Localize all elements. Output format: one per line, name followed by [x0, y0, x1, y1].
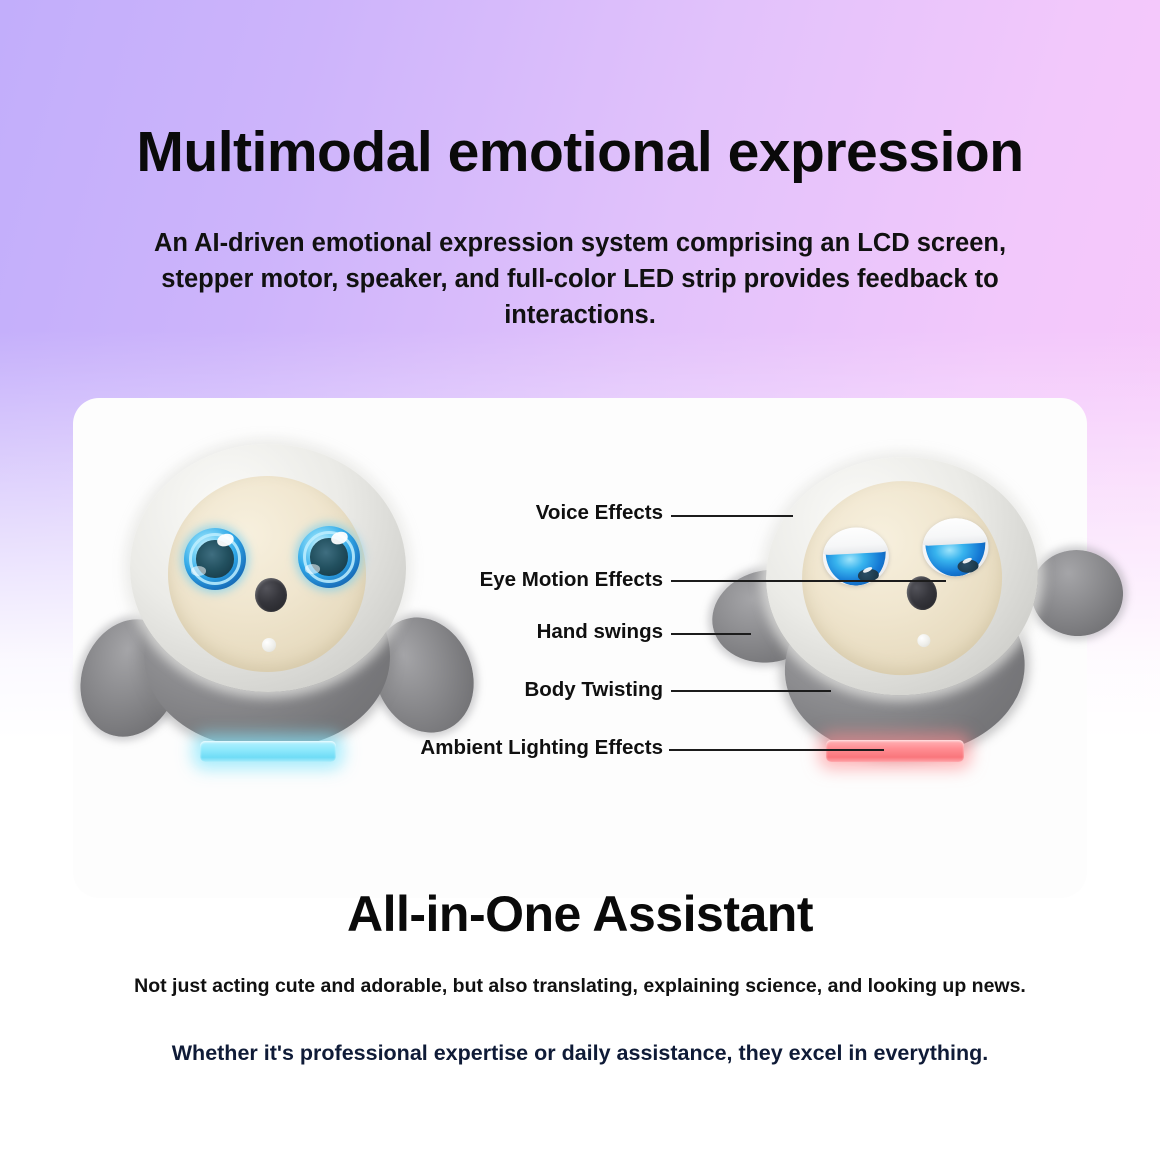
- callout-voice-effects: Voice Effects: [536, 501, 663, 525]
- robot-right-eye-left-lid: [821, 526, 890, 555]
- robot-left-nose: [255, 578, 287, 612]
- callout-ambient-lighting-effects: Ambient Lighting Effects: [420, 736, 663, 760]
- page-subtitle: An AI-driven emotional expression system…: [130, 225, 1030, 334]
- robot-left-eye-right: [298, 526, 360, 588]
- robot-right-ambient-led: [826, 740, 964, 762]
- robot-right-eye-right: [921, 517, 990, 578]
- bottom-tagline: Not just acting cute and adorable, but a…: [0, 975, 1160, 998]
- callout-eye-motion-effects: Eye Motion Effects: [480, 568, 663, 592]
- callout-hand-swings-label: Hand swings: [537, 620, 663, 644]
- robot-right: [692, 444, 1120, 785]
- callout-body-twisting-line: [671, 690, 831, 692]
- robot-right-eye-right-iris: [925, 541, 987, 578]
- callout-ambient-lighting-effects-label: Ambient Lighting Effects: [420, 736, 663, 760]
- bottom-paragraph: Whether it's professional expertise or d…: [160, 1038, 1000, 1069]
- bottom-title: All-in-One Assistant: [0, 885, 1160, 943]
- robot-left-indicator-dot: [262, 638, 276, 652]
- callout-body-twisting-label: Body Twisting: [524, 678, 663, 702]
- page-headline: Multimodal emotional expression: [0, 124, 1160, 181]
- callout-voice-effects-line: [671, 515, 793, 517]
- robot-left-eye-left-glint-secondary: [191, 566, 206, 575]
- callout-eye-motion-effects-line: [671, 580, 946, 582]
- page-root: Multimodal emotional expression An AI-dr…: [0, 0, 1160, 1166]
- robot-right-eye-left: [821, 526, 890, 587]
- callout-hand-swings: Hand swings: [537, 620, 663, 644]
- callout-body-twisting: Body Twisting: [524, 678, 663, 702]
- robot-left: [90, 440, 490, 780]
- robot-right-eye-right-sclera: [921, 517, 990, 578]
- robot-right-eye-left-sclera: [821, 526, 890, 587]
- callout-eye-motion-effects-label: Eye Motion Effects: [480, 568, 663, 592]
- callout-ambient-lighting-effects-line: [669, 749, 884, 751]
- callout-voice-effects-label: Voice Effects: [536, 501, 663, 525]
- robot-right-eye-right-lid: [921, 517, 990, 546]
- callout-hand-swings-line: [671, 633, 751, 635]
- robot-left-eye-left: [184, 528, 246, 590]
- bottom-paragraph-wrap: Whether it's professional expertise or d…: [0, 1038, 1160, 1069]
- header-section: Multimodal emotional expression An AI-dr…: [0, 0, 1160, 334]
- robot-left-eye-right-glint-secondary: [305, 564, 320, 573]
- robot-left-ambient-led: [200, 741, 336, 762]
